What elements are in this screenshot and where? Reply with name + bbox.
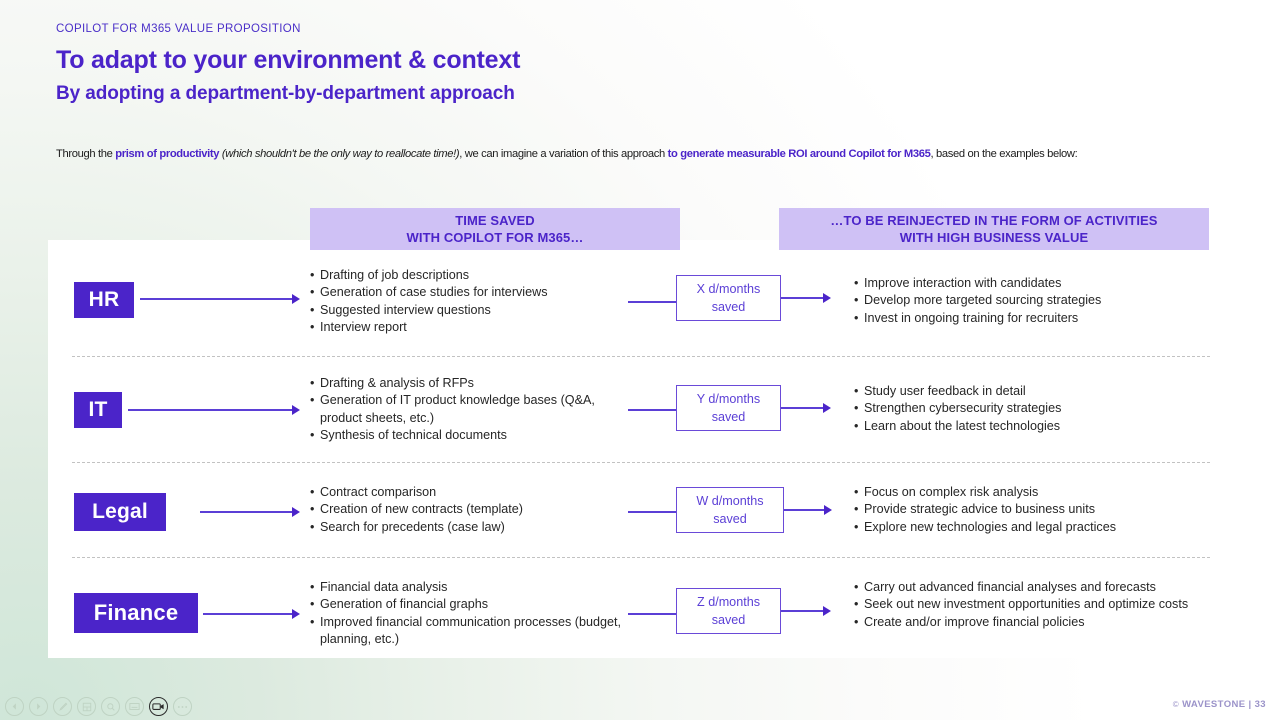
outcome-list-it: Study user feedback in detail Strengthen…	[854, 383, 1234, 435]
arrow-savings-to-outcomes-legal	[784, 504, 832, 516]
banner-value-line2: WITH HIGH BUSINESS VALUE	[900, 229, 1089, 246]
copyright-icon: ©	[1173, 700, 1179, 709]
arrow-shaft	[781, 297, 823, 299]
department-chip-hr: HR	[74, 282, 134, 318]
zoom-button[interactable]	[101, 697, 120, 716]
list-item: Suggested interview questions	[310, 302, 630, 319]
table-row: HR Drafting of job descriptions Generati…	[48, 258, 1233, 346]
savings-label-finance: saved	[712, 611, 746, 629]
list-item: Create and/or improve financial policies	[854, 614, 1204, 631]
list-item: Contract comparison	[310, 484, 630, 501]
savings-value-legal: W d/months	[696, 492, 763, 510]
grid-view-button[interactable]	[77, 697, 96, 716]
arrow-shaft	[784, 509, 824, 511]
banner-value-line1: …TO BE REINJECTED IN THE FORM OF ACTIVIT…	[830, 212, 1157, 229]
list-item: Synthesis of technical documents	[310, 427, 635, 444]
list-item: Develop more targeted sourcing strategie…	[854, 292, 1234, 309]
chevron-left-icon	[10, 702, 19, 711]
savings-value-finance: Z d/months	[697, 593, 760, 611]
department-chip-legal-label: Legal	[92, 500, 148, 524]
slide-subtitle: By adopting a department-by-department a…	[56, 81, 520, 107]
row-separator	[72, 356, 1210, 357]
slide-eyebrow: COPILOT FOR M365 VALUE PROPOSITION	[56, 22, 520, 36]
list-item: Study user feedback in detail	[854, 383, 1234, 400]
task-list-it: Drafting & analysis of RFPs Generation o…	[310, 375, 635, 445]
list-item: Interview report	[310, 319, 630, 336]
arrow-head	[292, 294, 300, 304]
list-item: Generation of IT product knowledge bases…	[310, 392, 635, 427]
arrow-finance-to-tasks	[203, 608, 300, 620]
outcome-list-legal: Focus on complex risk analysis Provide s…	[854, 484, 1234, 536]
arrow-shaft	[128, 409, 292, 411]
list-item: Learn about the latest technologies	[854, 418, 1234, 435]
savings-value-hr: X d/months	[697, 280, 761, 298]
list-item: Improved financial communication process…	[310, 614, 630, 649]
arrow-shaft	[628, 511, 676, 513]
ellipsis-icon	[177, 705, 188, 709]
next-slide-button[interactable]	[29, 697, 48, 716]
magnifier-icon	[106, 702, 116, 712]
arrow-tasks-to-savings-finance	[628, 608, 676, 620]
footer-brand-label: WAVESTONE | 33	[1182, 699, 1266, 710]
list-item: Generation of case studies for interview…	[310, 284, 630, 301]
row-separator	[72, 462, 1210, 463]
arrow-shaft	[200, 511, 292, 513]
arrow-tasks-to-savings-legal	[628, 506, 676, 518]
arrow-head	[823, 403, 831, 413]
list-item: Generation of financial graphs	[310, 596, 630, 613]
record-button[interactable]	[149, 697, 168, 716]
arrow-savings-to-outcomes-finance	[781, 605, 831, 617]
intro-part3: , based on the examples below:	[931, 148, 1078, 160]
arrow-shaft	[628, 409, 676, 411]
pen-icon	[58, 702, 68, 712]
more-options-button[interactable]	[173, 697, 192, 716]
savings-label-it: saved	[712, 408, 746, 426]
arrow-tasks-to-savings-it	[628, 404, 676, 416]
list-item: Drafting & analysis of RFPs	[310, 375, 635, 392]
arrow-head	[292, 507, 300, 517]
arrow-hr-to-tasks	[140, 293, 300, 305]
arrow-savings-to-outcomes-it	[781, 402, 831, 414]
arrow-shaft	[781, 407, 823, 409]
table-row: Legal Contract comparison Creation of ne…	[48, 472, 1233, 552]
savings-box-legal: W d/months saved	[676, 487, 784, 533]
arrow-shaft	[628, 301, 676, 303]
department-chip-finance: Finance	[74, 593, 198, 633]
savings-box-hr: X d/months saved	[676, 275, 781, 321]
savings-box-finance: Z d/months saved	[676, 588, 781, 634]
banner-time-saved-line2: WITH COPILOT FOR M365…	[407, 229, 584, 246]
banner-time-saved: TIME SAVED WITH COPILOT FOR M365…	[310, 208, 680, 250]
arrow-shaft	[140, 298, 292, 300]
task-list-hr: Drafting of job descriptions Generation …	[310, 267, 630, 337]
list-item: Focus on complex risk analysis	[854, 484, 1234, 501]
arrow-head	[823, 606, 831, 616]
arrow-tasks-to-savings-hr	[628, 296, 676, 308]
arrow-savings-to-outcomes-hr	[781, 292, 831, 304]
slide-header: COPILOT FOR M365 VALUE PROPOSITION To ad…	[56, 22, 520, 107]
arrow-legal-to-tasks	[200, 506, 300, 518]
list-item: Invest in ongoing training for recruiter…	[854, 310, 1234, 327]
outcome-list-hr: Improve interaction with candidates Deve…	[854, 275, 1234, 327]
list-item: Seek out new investment opportunities an…	[854, 596, 1204, 613]
list-item: Improve interaction with candidates	[854, 275, 1234, 292]
banner-high-business-value: …TO BE REINJECTED IN THE FORM OF ACTIVIT…	[779, 208, 1209, 250]
table-row: Finance Financial data analysis Generati…	[48, 566, 1233, 658]
savings-value-it: Y d/months	[697, 390, 760, 408]
video-camera-icon	[152, 702, 165, 711]
intro-paragraph: Through the prism of productivity (which…	[56, 147, 1226, 162]
list-item: Drafting of job descriptions	[310, 267, 630, 284]
previous-slide-button[interactable]	[5, 697, 24, 716]
list-item: Explore new technologies and legal pract…	[854, 519, 1234, 536]
table-row: IT Drafting & analysis of RFPs Generatio…	[48, 366, 1233, 452]
grid-icon	[82, 702, 92, 712]
caption-icon	[129, 702, 140, 711]
intro-italic-note: (which shouldn't be the only way to real…	[219, 148, 459, 160]
list-item: Creation of new contracts (template)	[310, 501, 630, 518]
savings-label-legal: saved	[713, 510, 747, 528]
savings-box-it: Y d/months saved	[676, 385, 781, 431]
list-item: Financial data analysis	[310, 579, 630, 596]
slide-title: To adapt to your environment & context	[56, 44, 520, 76]
footer-brand: © WAVESTONE | 33	[1173, 699, 1266, 710]
list-item: Search for precedents (case law)	[310, 519, 630, 536]
department-chip-hr-label: HR	[89, 288, 120, 312]
arrow-head	[823, 293, 831, 303]
presentation-toolbar[interactable]	[5, 697, 192, 716]
savings-label-hr: saved	[712, 298, 746, 316]
list-item: Strengthen cybersecurity strategies	[854, 400, 1234, 417]
list-item: Provide strategic advice to business uni…	[854, 501, 1234, 518]
intro-part2: , we can imagine a variation of this app…	[459, 148, 667, 160]
list-item: Carry out advanced financial analyses an…	[854, 579, 1204, 596]
pen-tool-button[interactable]	[53, 697, 72, 716]
intro-highlight-roi: to generate measurable ROI around Copilo…	[668, 148, 931, 160]
department-chip-it-label: IT	[88, 398, 107, 422]
banner-time-saved-line1: TIME SAVED	[455, 212, 535, 229]
outcome-list-finance: Carry out advanced financial analyses an…	[854, 579, 1204, 631]
chevron-right-icon	[34, 702, 43, 711]
subtitles-button[interactable]	[125, 697, 144, 716]
arrow-head	[824, 505, 832, 515]
arrow-shaft	[628, 613, 676, 615]
intro-part1: Through the	[56, 148, 115, 160]
task-list-legal: Contract comparison Creation of new cont…	[310, 484, 630, 536]
arrow-shaft	[781, 610, 823, 612]
arrow-head	[292, 609, 300, 619]
department-chip-legal: Legal	[74, 493, 166, 531]
intro-highlight-prism: prism of productivity	[115, 148, 219, 160]
arrow-head	[292, 405, 300, 415]
department-chip-it: IT	[74, 392, 122, 428]
row-separator	[72, 557, 1210, 558]
task-list-finance: Financial data analysis Generation of fi…	[310, 579, 630, 649]
arrow-shaft	[203, 613, 292, 615]
arrow-it-to-tasks	[128, 404, 300, 416]
department-chip-finance-label: Finance	[94, 600, 179, 626]
